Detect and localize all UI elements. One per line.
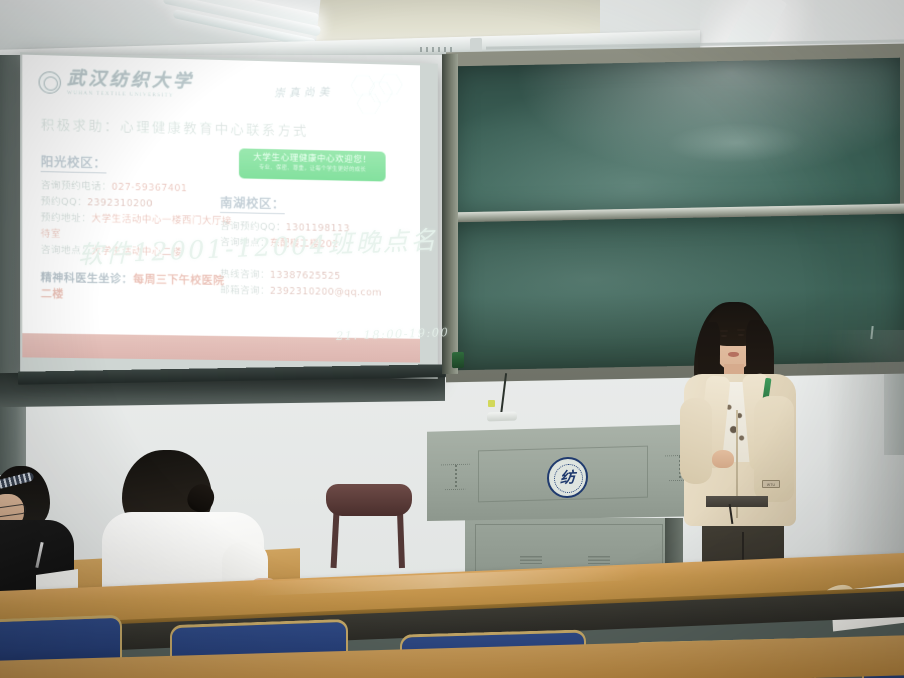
contact-label: 热线咨询： [220, 269, 270, 281]
waistband [706, 496, 768, 507]
university-name-cn: 武汉纺织大学 [67, 70, 194, 91]
doctor-label: 精神科医生坐诊： [41, 271, 133, 286]
campus-column-nanhu: 南湖校区： 咨询预约QQ：1301198113 咨询地点：东配楼二楼202 热线… [220, 192, 408, 302]
microphone-base[interactable] [487, 411, 517, 421]
contact-label: 预约QQ： [41, 196, 88, 208]
university-seal-icon [39, 71, 61, 94]
contact-value: 大学生活动中心二楼 [91, 246, 182, 259]
university-motto: 崇真尚美 [273, 83, 333, 101]
campus-heading: 阳光校区： [41, 151, 107, 174]
hexagon-decoration-icon [339, 71, 408, 120]
campus-heading: 南湖校区： [220, 192, 285, 214]
hand-gesture [712, 450, 734, 468]
contact-value: 027-59367401 [111, 182, 187, 195]
wall-shadow [826, 330, 904, 570]
contact-label: 预约地址： [41, 212, 92, 224]
contact-row: 邮箱咨询：2392310200@qq.com [220, 283, 408, 302]
contact-label: 邮箱咨询： [220, 285, 270, 297]
classroom-scene: 武汉纺织大学 WUHAN TEXTILE UNIVERSITY 崇真尚美 积极求… [0, 0, 904, 678]
contact-row: 咨询地点：大学生活动中心二楼 [41, 243, 232, 263]
eyebrow [737, 329, 745, 331]
presenter-person: WTU [676, 300, 802, 590]
blackboard-left-post [442, 54, 458, 374]
slide-title: 积极求助：心理健康教育中心联系方式 [41, 114, 309, 140]
contact-value: 1301198113 [286, 222, 350, 234]
contact-value: 2392310200@qq.com [270, 286, 382, 299]
campus-column-sunshine: 阳光校区： 咨询预约电话：027-59367401 预约QQ：239231020… [41, 151, 232, 304]
arm-left [680, 398, 712, 484]
contact-value: 东配楼二楼202 [270, 238, 339, 250]
wooden-chair[interactable] [326, 484, 412, 568]
doctor-schedule-row: 精神科医生坐诊：每周三下午校医院二楼 [41, 269, 232, 304]
student-with-glasses [0, 466, 80, 606]
contact-value: 2392310200 [87, 197, 153, 209]
blackboard [446, 48, 904, 378]
chair-leg [397, 512, 405, 568]
welcome-callout-box: 大学生心理健康中心欢迎您！ 专业、保密、尊重，让每个学生更好的成长 [239, 148, 386, 181]
mouth [728, 352, 739, 357]
callout-line-2: 专业、保密、尊重，让每个学生更好的成长 [245, 163, 380, 175]
podium-vent [520, 556, 542, 566]
emblem-glyph: 纺 [560, 470, 575, 485]
chalk-smudge [666, 122, 806, 165]
chair-leg [331, 512, 340, 568]
contact-label: 咨询地点： [220, 237, 270, 249]
chair-backrest [326, 484, 412, 516]
contact-label: 咨询预约QQ： [220, 221, 286, 233]
slide-footer-band [22, 333, 420, 362]
jacket-label-tag: WTU [762, 480, 780, 488]
chalkboard-eraser-icon[interactable] [452, 352, 464, 368]
presentation-slide: 武汉纺织大学 WUHAN TEXTILE UNIVERSITY 崇真尚美 积极求… [22, 55, 420, 363]
contact-value: 13387625525 [270, 270, 341, 282]
contact-row: 咨询地点：东配楼二楼202 [220, 235, 408, 254]
contact-label: 咨询地点： [41, 245, 92, 257]
clip-icon [488, 400, 495, 407]
university-logo: 武汉纺织大学 WUHAN TEXTILE UNIVERSITY [39, 69, 194, 99]
eyebrow [720, 330, 728, 332]
contact-label: 咨询预约电话： [41, 180, 112, 193]
contact-row: 预约地址：大学生活动中心一楼西门大厅接待室 [41, 210, 232, 246]
blackboard-upper-panel[interactable] [456, 58, 900, 213]
